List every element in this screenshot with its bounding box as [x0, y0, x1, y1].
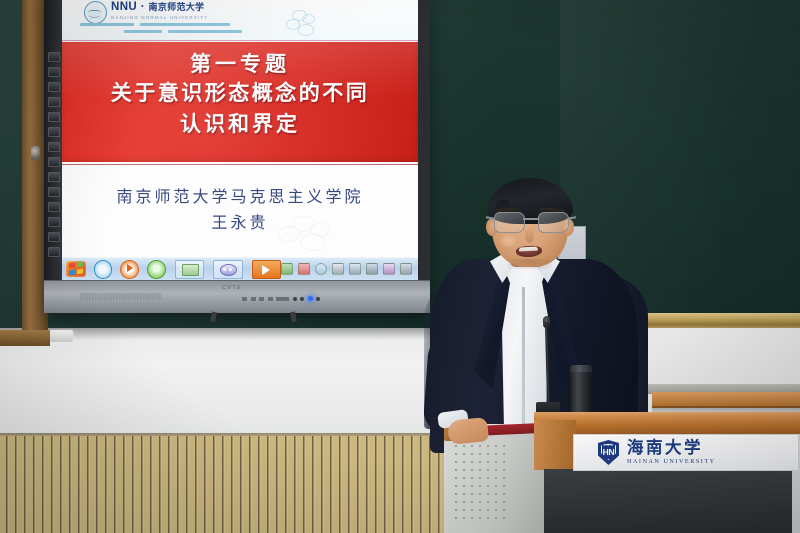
- side-button[interactable]: [48, 217, 60, 227]
- control-button[interactable]: [259, 297, 264, 301]
- presenter-hand: [447, 417, 489, 445]
- acoustic-slat-panel: [0, 436, 462, 533]
- nnu-name-en: NANJING NORMAL UNIVERSITY: [111, 14, 208, 21]
- media-player-icon[interactable]: [120, 260, 139, 279]
- slide-title: 第一专题 关于意识形态概念的不同 认识和界定: [62, 50, 418, 140]
- eyeglass-lens-left: [494, 212, 525, 233]
- shield-stars: ★★★: [598, 443, 619, 447]
- display-stand-legs: [194, 312, 314, 322]
- podium-left-wood-panel: [534, 420, 576, 470]
- plaque-name-cn: 海南大学: [627, 440, 716, 457]
- display-screen[interactable]: NNU · 南京师范大学 NANJING NORMAL UNIVERSITY: [62, 0, 418, 280]
- internet-explorer-icon[interactable]: [94, 260, 113, 279]
- side-button[interactable]: [48, 67, 60, 77]
- plaque-text-block: 海南大学 HAINAN UNIVERSITY: [627, 440, 716, 466]
- shield-initials: HN: [598, 447, 619, 457]
- presenter-nose: [525, 227, 534, 243]
- slide-title-line-1: 第一专题: [62, 50, 418, 78]
- green-browser-icon[interactable]: [147, 260, 166, 279]
- side-button[interactable]: [48, 112, 60, 122]
- network-icon[interactable]: [366, 263, 378, 275]
- display-icon[interactable]: [349, 263, 361, 275]
- nnu-name-cn: 南京师范大学: [149, 2, 205, 12]
- power-led-indicator: [308, 296, 313, 301]
- side-button[interactable]: [48, 157, 60, 167]
- control-button[interactable]: [242, 297, 247, 301]
- shirt-placket: [522, 287, 525, 425]
- system-tray[interactable]: [281, 263, 412, 275]
- slide-subtitle-presenter: 王永贵: [62, 210, 418, 236]
- ir-receiver-icon: [300, 297, 304, 301]
- slide-watermark-cloud-icon: [272, 216, 342, 250]
- side-button[interactable]: [48, 142, 60, 152]
- video-player-icon: [262, 265, 270, 275]
- display-side-button-column[interactable]: [48, 52, 60, 257]
- power-button[interactable]: [316, 297, 320, 301]
- display-side-bezel: [44, 0, 62, 280]
- control-button[interactable]: [251, 297, 256, 301]
- university-plaque: ★★★ HN 海南大学 HAINAN UNIVERSITY: [573, 434, 799, 471]
- display-speaker-grille: [80, 293, 162, 300]
- slide-subtitle: 南京师范大学马克思主义学院 王永贵: [62, 184, 418, 236]
- side-button[interactable]: [48, 82, 60, 92]
- taskbar-window-video[interactable]: [252, 260, 281, 279]
- slide-title-line-2: 关于意识形态概念的不同: [62, 78, 418, 109]
- nnu-abbr: NNU · 南京师范大学: [111, 1, 208, 13]
- side-button[interactable]: [48, 52, 60, 62]
- eyeglass-lens-right: [538, 212, 569, 233]
- side-button[interactable]: [48, 187, 60, 197]
- windows-start-icon[interactable]: [66, 261, 86, 277]
- nnu-wordmark: NNU · 南京师范大学 NANJING NORMAL UNIVERSITY: [111, 1, 208, 21]
- slide-header: NNU · 南京师范大学 NANJING NORMAL UNIVERSITY: [62, 0, 418, 42]
- side-button[interactable]: [48, 202, 60, 212]
- interactive-flat-panel-display[interactable]: NNU · 南京师范大学 NANJING NORMAL UNIVERSITY: [44, 0, 430, 312]
- chin-shadow: [508, 259, 552, 269]
- speaker-perforation-grille: [452, 442, 510, 520]
- hainan-university-shield-icon: ★★★ HN: [598, 440, 619, 465]
- download-icon[interactable]: [332, 263, 344, 275]
- taskbar-window-presentation[interactable]: [175, 260, 204, 279]
- taskbar-window-reader[interactable]: [213, 260, 242, 279]
- owl-app-icon: [220, 264, 237, 276]
- display-bottom-bezel: CVTE: [44, 280, 430, 313]
- eyeglass-temple-right: [567, 216, 576, 219]
- ceiling-light: [47, 330, 73, 342]
- presenter-teeth: [519, 247, 538, 252]
- header-decor-bars: [80, 23, 300, 37]
- header-cloud-motif-icon: [280, 10, 322, 36]
- eyeglass-bridge: [523, 218, 538, 220]
- plaque-name-en: HAINAN UNIVERSITY: [627, 459, 716, 465]
- side-button[interactable]: [48, 127, 60, 137]
- lecture-hall-photo: NNU · 南京师范大学 NANJING NORMAL UNIVERSITY: [0, 0, 800, 533]
- slide-title-line-3: 认识和界定: [62, 109, 418, 140]
- control-button[interactable]: [268, 297, 273, 301]
- volume-icon[interactable]: [400, 263, 412, 275]
- cheek-highlight: [500, 235, 516, 247]
- podium-body: [544, 469, 792, 533]
- security-icon[interactable]: [281, 263, 293, 275]
- display-control-buttons[interactable]: [242, 296, 320, 301]
- control-button-wide[interactable]: [276, 297, 289, 301]
- antivirus-icon[interactable]: [298, 263, 310, 275]
- side-button[interactable]: [48, 247, 60, 257]
- sensor-icon: [293, 297, 297, 301]
- side-button[interactable]: [48, 172, 60, 182]
- window-preview-icon: [182, 264, 199, 276]
- wooden-sill: [0, 330, 50, 346]
- header-underline: [62, 40, 418, 41]
- side-button[interactable]: [48, 97, 60, 107]
- cloud-icon[interactable]: [315, 263, 327, 275]
- input-method-icon[interactable]: [383, 263, 395, 275]
- slide-title-banner: 第一专题 关于意识形态概念的不同 认识和界定: [62, 42, 418, 162]
- nnu-emblem-icon: [84, 1, 107, 24]
- display-brand-label: CVTE: [222, 285, 242, 291]
- side-button[interactable]: [48, 232, 60, 242]
- slide-divider: [62, 164, 418, 165]
- slide-subtitle-affiliation: 南京师范大学马克思主义学院: [62, 184, 418, 210]
- frame-lock-icon: [31, 146, 40, 160]
- windows-taskbar[interactable]: [62, 257, 418, 280]
